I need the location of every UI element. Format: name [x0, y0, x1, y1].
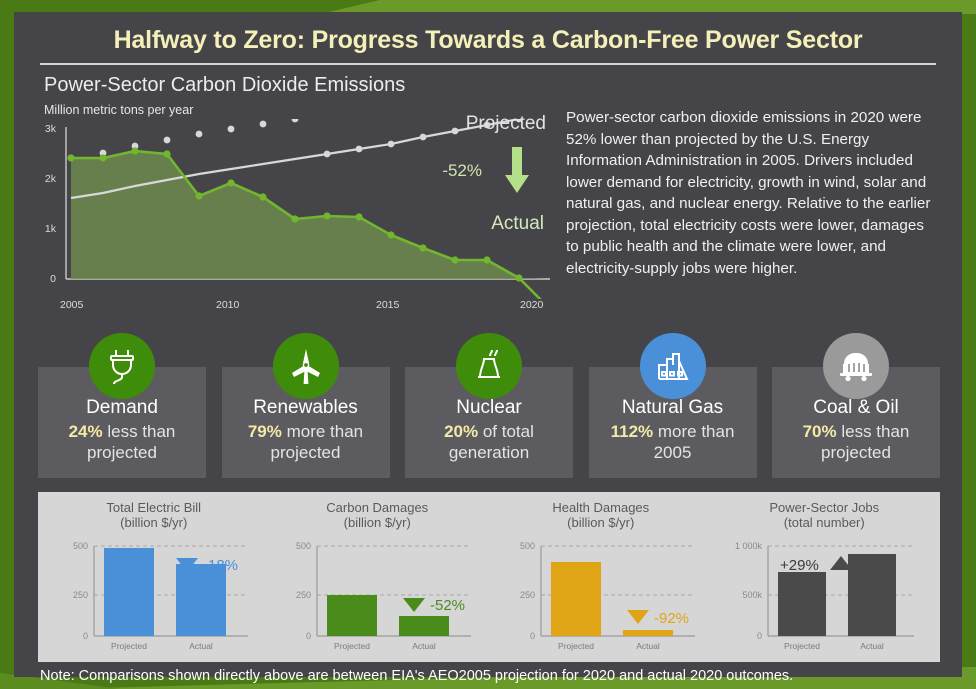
bar-actual: [623, 630, 673, 636]
actual-series-label: Actual: [491, 213, 544, 235]
svg-text:1k: 1k: [45, 223, 57, 235]
y-tick-500: 500: [73, 541, 88, 551]
page-title: Halfway to Zero: Progress Towards a Carb…: [38, 26, 938, 55]
mini-title-line2: (billion $/yr): [44, 515, 264, 530]
mini-title-line1: Power-Sector Jobs: [715, 500, 935, 515]
bar-actual: [176, 564, 226, 636]
y-tick-500k: 500k: [743, 590, 763, 600]
card-value: 24%: [69, 422, 103, 441]
mini-chart-title: Health Damages (billion $/yr): [491, 500, 711, 531]
stat-card-renewables[interactable]: Renewables 79% more than projected: [222, 333, 390, 478]
svg-text:0: 0: [50, 273, 56, 285]
emissions-line-chart: 3k 2k 1k 0: [38, 119, 554, 299]
x-label-actual: Actual: [860, 641, 884, 651]
card-text: more than 2005: [653, 422, 734, 462]
top-section: Million metric tons per year 3k 2k 1k 0: [14, 97, 962, 317]
mini-chart-body: 1 000k 500k 0 +29% Projected Actual: [715, 534, 935, 652]
stat-card-nuclear[interactable]: Nuclear 20% of total generation: [405, 333, 573, 478]
y-tick-0: 0: [757, 631, 762, 641]
y-tick-250: 250: [73, 590, 88, 600]
x-tick-2020: 2020: [520, 299, 543, 311]
bar-projected: [551, 562, 601, 636]
bar-projected: [778, 572, 826, 636]
card-value: 70%: [803, 422, 837, 441]
card-text: more than projected: [271, 422, 364, 462]
footnote: Note: Comparisons shown directly above a…: [14, 662, 962, 684]
x-label-projected: Projected: [784, 641, 820, 651]
x-label-projected: Projected: [334, 641, 370, 651]
card-title: Nuclear: [411, 397, 567, 419]
y-tick-0: 0: [83, 631, 88, 641]
x-tick-2015: 2015: [376, 299, 399, 311]
y-tick-500: 500: [296, 541, 311, 551]
mini-title-line1: Total Electric Bill: [44, 500, 264, 515]
infographic-poster: Halfway to Zero: Progress Towards a Carb…: [14, 12, 962, 677]
card-value: 112%: [611, 422, 654, 441]
mini-chart-carbon-damages: Carbon Damages (billion $/yr) 500 250 0 …: [266, 500, 490, 658]
y-tick-250: 250: [296, 590, 311, 600]
card-stat: 20% of total generation: [411, 421, 567, 464]
svg-text:2k: 2k: [45, 173, 57, 185]
card-stat: 70% less than projected: [778, 421, 934, 464]
mini-chart-power-sector-jobs: Power-Sector Jobs (total number) 1 000k …: [713, 500, 937, 658]
y-tick-1000k: 1 000k: [735, 541, 763, 551]
wind-turbine-icon: [273, 333, 339, 399]
mini-chart-title: Total Electric Bill (billion $/yr): [44, 500, 264, 531]
title-divider: [40, 63, 936, 65]
down-arrow-icon: [504, 147, 530, 195]
mini-delta-label: -18%: [203, 557, 238, 574]
bar-projected: [327, 595, 377, 636]
mini-charts-panel: Total Electric Bill (billion $/yr) 500 2…: [38, 492, 940, 662]
mini-title-line2: (billion $/yr): [268, 515, 488, 530]
y-tick-500: 500: [520, 541, 535, 551]
description-paragraph: Power-sector carbon dioxide emissions in…: [566, 103, 940, 317]
mini-title-line2: (billion $/yr): [491, 515, 711, 530]
mini-title-line1: Carbon Damages: [268, 500, 488, 515]
card-title: Renewables: [228, 397, 384, 419]
mini-chart-electric-bill: Total Electric Bill (billion $/yr) 500 2…: [42, 500, 266, 658]
mini-chart-body: 500 250 0 -18% Projected Actual: [44, 534, 264, 652]
card-value: 20%: [444, 422, 478, 441]
x-tick-2005: 2005: [60, 299, 83, 311]
mini-chart-body: 500 250 0 -92% Projected Actual: [491, 534, 711, 652]
y-tick-0: 0: [306, 631, 311, 641]
mini-delta-label: -52%: [430, 597, 465, 614]
bar-actual: [399, 616, 449, 636]
x-tick-2010: 2010: [216, 299, 239, 311]
emissions-delta-label: -52%: [442, 161, 482, 181]
mini-chart-title: Power-Sector Jobs (total number): [715, 500, 935, 531]
mini-chart-health-damages: Health Damages (billion $/yr) 500 250 0 …: [489, 500, 713, 658]
x-label-actual: Actual: [412, 641, 436, 651]
bar-projected: [104, 548, 154, 636]
card-stat: 24% less than projected: [44, 421, 200, 464]
stat-card-coal-oil[interactable]: Coal & Oil 70% less than projected: [772, 333, 940, 478]
emissions-chart-block: Million metric tons per year 3k 2k 1k 0: [38, 103, 558, 317]
projected-series-label: Projected: [466, 113, 546, 135]
delta-arrow-icon: [403, 598, 425, 612]
x-label-projected: Projected: [111, 641, 147, 651]
stat-card-natural-gas[interactable]: Natural Gas 112% more than 2005: [589, 333, 757, 478]
x-label-actual: Actual: [636, 641, 660, 651]
emissions-chart-svg: 3k 2k 1k 0: [38, 119, 554, 299]
plug-icon: [89, 333, 155, 399]
card-stat: 112% more than 2005: [595, 421, 751, 464]
section-subtitle: Power-Sector Carbon Dioxide Emissions: [38, 74, 938, 97]
cooling-tower-icon: [456, 333, 522, 399]
y-axis-ticks: 3k 2k 1k 0: [45, 123, 57, 285]
card-title: Natural Gas: [595, 397, 751, 419]
header: Halfway to Zero: Progress Towards a Carb…: [14, 12, 962, 97]
delta-arrow-icon: [627, 610, 649, 624]
mini-title-line1: Health Damages: [491, 500, 711, 515]
factory-icon: [640, 333, 706, 399]
svg-text:3k: 3k: [45, 123, 57, 135]
y-tick-250: 250: [520, 590, 535, 600]
emissions-x-axis-labels: 2005 2010 2015 2020: [38, 299, 554, 317]
card-stat: 79% more than projected: [228, 421, 384, 464]
card-title: Demand: [44, 397, 200, 419]
x-label-actual: Actual: [189, 641, 213, 651]
x-label-projected: Projected: [558, 641, 594, 651]
card-value: 79%: [248, 422, 282, 441]
y-tick-0: 0: [530, 631, 535, 641]
stat-cards: Demand 24% less than projected: [14, 317, 962, 478]
bar-actual: [848, 554, 896, 636]
coal-car-icon: [823, 333, 889, 399]
stat-card-demand[interactable]: Demand 24% less than projected: [38, 333, 206, 478]
mini-title-line2: (total number): [715, 515, 935, 530]
mini-chart-body: 500 250 0 -52% Projected Actual: [268, 534, 488, 652]
mini-delta-label: -92%: [654, 610, 689, 627]
card-title: Coal & Oil: [778, 397, 934, 419]
mini-chart-title: Carbon Damages (billion $/yr): [268, 500, 488, 531]
mini-delta-label: +29%: [780, 557, 819, 574]
